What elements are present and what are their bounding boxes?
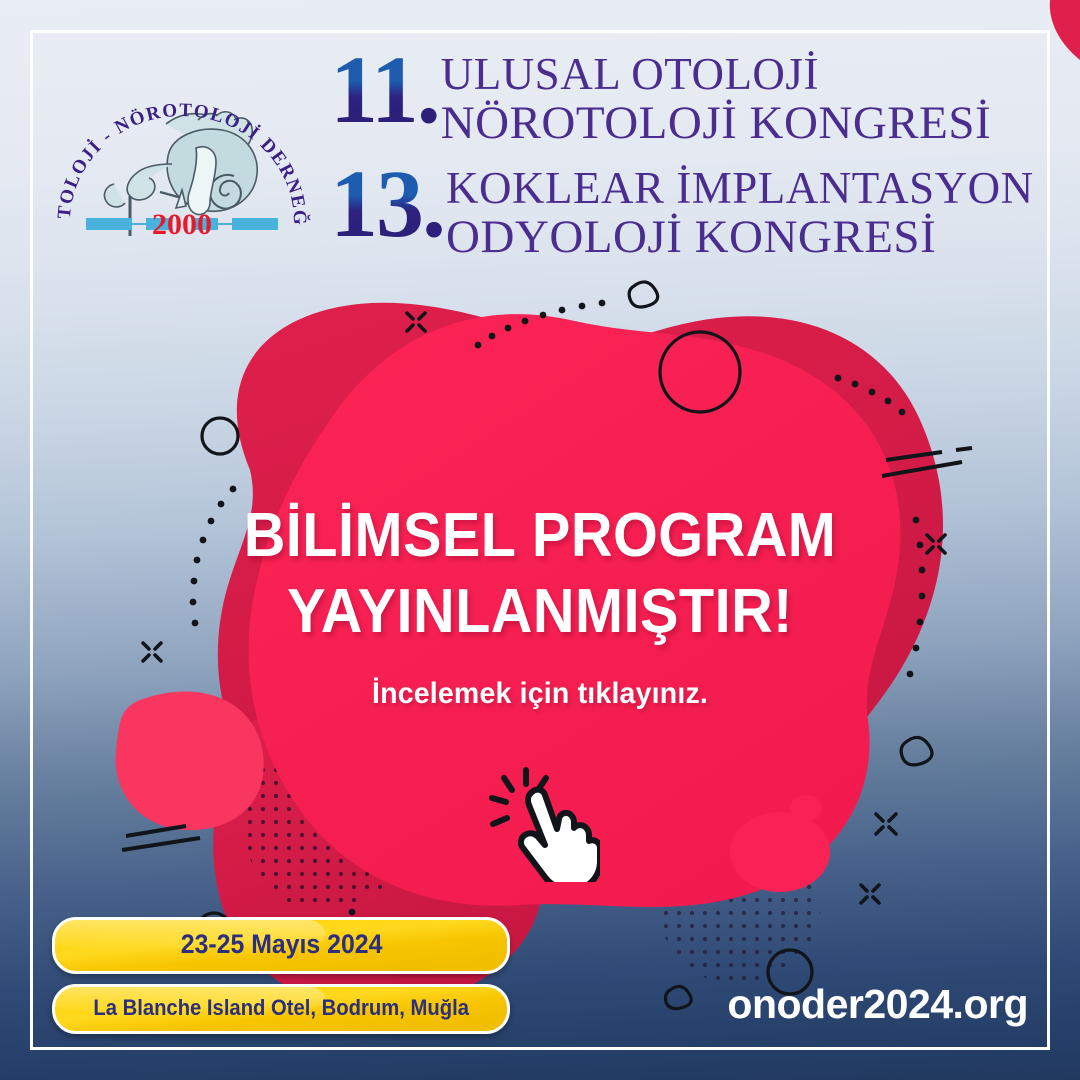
hand-shape [521,790,600,882]
event-date-badge: 23-25 Mayıs 2024 [52,917,510,974]
logo-year: 2000 [152,208,212,241]
click-hand-cursor-icon[interactable] [0,762,1080,887]
heading-row-2: 13. KOKLEAR İMPLANTASYON ODYOLOJİ KONGRE… [330,160,1030,260]
heading-lines-2: KOKLEAR İMPLANTASYON ODYOLOJİ KONGRESİ [446,160,1034,260]
announcement-headline-line1: BİLİMSEL PROGRAM [38,498,1042,574]
heading-lines-1: ULUSAL OTOLOJİ NÖROTOLOJİ KONGRESİ [441,46,991,146]
event-details: 23-25 Mayıs 2024 La Blanche Island Otel,… [52,917,510,1034]
heading-line-2b: ODYOLOJİ KONGRESİ [446,214,1034,260]
event-date-text: 23-25 Mayıs 2024 [180,929,382,960]
heading-line-1a: ULUSAL OTOLOJİ [441,52,991,96]
heading-line-2a: KOKLEAR İMPLANTASYON [446,166,1034,210]
heading-line-1b: NÖROTOLOJİ KONGRESİ [441,100,991,146]
promo-poster: OTOLOJİ - NÖROTOLOJİ DERNEĞİ 2000 11. UL… [0,0,1080,1080]
heading-row-1: 11. ULUSAL OTOLOJİ NÖROTOLOJİ KONGRESİ [330,46,1030,146]
association-logo: OTOLOJİ - NÖROTOLOJİ DERNEĞİ 2000 [48,72,316,252]
congress-heading: 11. ULUSAL OTOLOJİ NÖROTOLOJİ KONGRESİ 1… [330,46,1030,260]
announcement-message[interactable]: BİLİMSEL PROGRAM YAYINLANMIŞTIR! İncelem… [0,498,1080,711]
event-venue-badge: La Blanche Island Otel, Bodrum, Muğla [52,984,510,1034]
heading-number-1: 11. [330,46,439,134]
event-venue-text: La Blanche Island Otel, Bodrum, Muğla [93,995,469,1021]
announcement-headline-line2: YAYINLANMIŞTIR! [38,574,1042,650]
website-url[interactable]: onoder2024.org [727,981,1028,1028]
heading-number-2: 13. [330,160,444,248]
announcement-subtitle: İncelemek için tıklayınız. [27,677,1053,711]
